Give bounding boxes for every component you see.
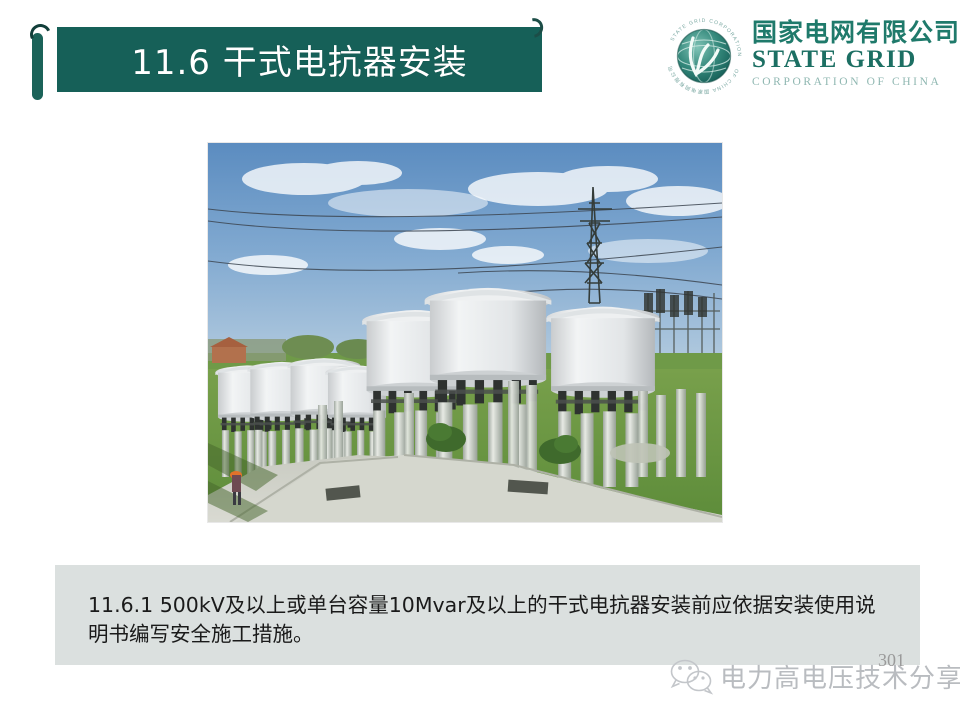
- content-text-box: 11.6.1 500kV及以上或单台容量10Mvar及以上的干式电抗器安装前应依…: [55, 565, 920, 665]
- wechat-icon: [668, 657, 714, 695]
- logo-company-name-en: STATE GRID: [752, 47, 960, 73]
- reactor-site-photo: [208, 143, 722, 522]
- body-paragraph: 11.6.1 500kV及以上或单台容量10Mvar及以上的干式电抗器安装前应依…: [88, 591, 888, 649]
- state-grid-wordmark: 国家电网有限公司 STATE GRID CORPORATION OF CHINA: [752, 14, 960, 88]
- logo-company-subtitle-en: CORPORATION OF CHINA: [752, 76, 960, 88]
- state-grid-globe-emblem-icon: STATE GRID CORPORATION OF CHINA 国家电网有限公司: [662, 14, 746, 98]
- logo-company-name-cn: 国家电网有限公司: [752, 20, 960, 46]
- slide-title-banner: 11.6 干式电抗器安装: [57, 27, 542, 92]
- wechat-watermark: 电力高电压技术分享: [668, 657, 960, 695]
- page-title: 11.6 干式电抗器安装: [57, 27, 542, 92]
- state-grid-logo: STATE GRID CORPORATION OF CHINA 国家电网有限公司…: [662, 14, 952, 106]
- watermark-label: 电力高电压技术分享: [720, 658, 960, 695]
